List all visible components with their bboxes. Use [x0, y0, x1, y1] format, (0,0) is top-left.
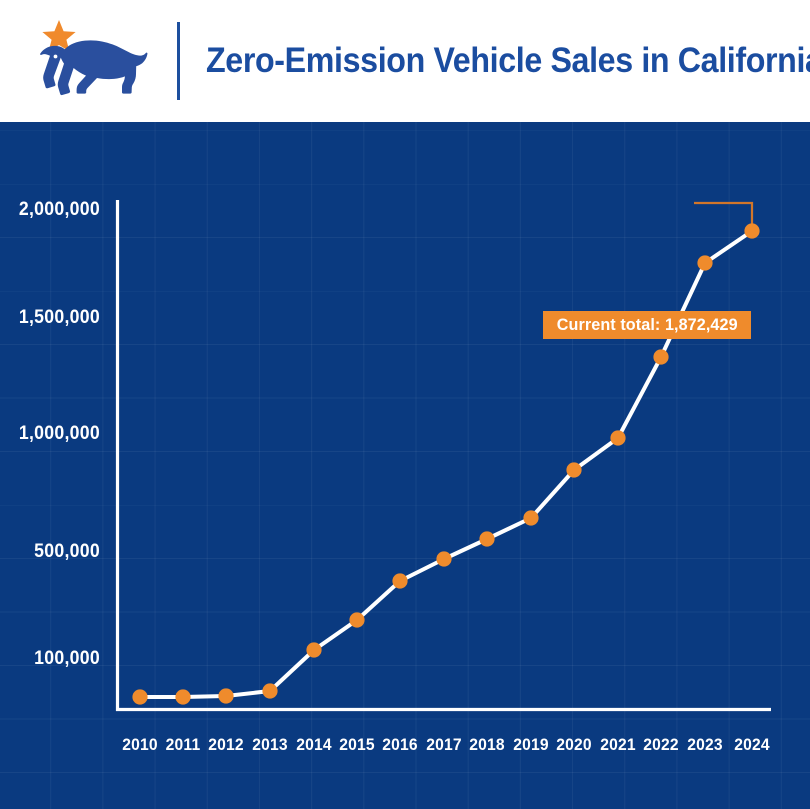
y-tick-label: 2,000,000 [7, 199, 100, 221]
callout-leader-line [694, 203, 752, 227]
y-tick-label: 1,000,000 [7, 423, 100, 445]
x-tick-label: 2015 [334, 735, 380, 755]
data-point-2011[interactable] [175, 689, 190, 704]
data-point-2019[interactable] [523, 510, 538, 525]
bear-icon [40, 40, 147, 95]
x-tick-label: 2014 [291, 735, 337, 755]
callout-badge[interactable]: Current total: 1,872,429 [543, 311, 751, 339]
data-point-2013[interactable] [262, 683, 277, 698]
chart-panel: Current total: 1,872,429 2,000,0001,500,… [0, 122, 810, 809]
data-point-2010[interactable] [132, 689, 147, 704]
x-tick-label: 2016 [377, 735, 423, 755]
data-point-2021[interactable] [610, 430, 625, 445]
y-tick-label: 500,000 [7, 541, 100, 563]
x-tick-label: 2024 [729, 735, 775, 755]
data-point-2023[interactable] [697, 255, 712, 270]
california-bear-logo [24, 16, 156, 106]
data-point-2015[interactable] [349, 612, 364, 627]
x-tick-label: 2017 [421, 735, 467, 755]
x-tick-label: 2022 [638, 735, 684, 755]
y-tick-label: 1,500,000 [7, 307, 100, 329]
data-point-2022[interactable] [653, 349, 668, 364]
x-tick-label: 2011 [160, 735, 206, 755]
x-tick-label: 2010 [117, 735, 163, 755]
data-point-2017[interactable] [436, 551, 451, 566]
chart-plot [0, 122, 810, 809]
header-divider [177, 22, 180, 100]
x-tick-label: 2020 [551, 735, 597, 755]
x-tick-label: 2019 [508, 735, 554, 755]
data-point-2014[interactable] [306, 642, 321, 657]
data-point-2016[interactable] [392, 573, 407, 588]
x-tick-label: 2021 [595, 735, 641, 755]
data-point-2018[interactable] [479, 531, 494, 546]
x-tick-label: 2012 [203, 735, 249, 755]
data-point-2024[interactable] [744, 223, 759, 238]
data-point-2020[interactable] [566, 462, 581, 477]
data-point-markers [132, 223, 759, 704]
y-tick-label: 100,000 [7, 648, 100, 670]
x-tick-label: 2018 [464, 735, 510, 755]
page-title: Zero-Emission Vehicle Sales in Californi… [206, 0, 810, 122]
data-series-line [140, 231, 752, 697]
x-tick-label: 2023 [682, 735, 728, 755]
x-tick-label: 2013 [247, 735, 293, 755]
data-point-2012[interactable] [218, 688, 233, 703]
page-header: Zero-Emission Vehicle Sales in Californi… [0, 0, 810, 122]
callout-label: Current total: 1,872,429 [557, 315, 738, 335]
